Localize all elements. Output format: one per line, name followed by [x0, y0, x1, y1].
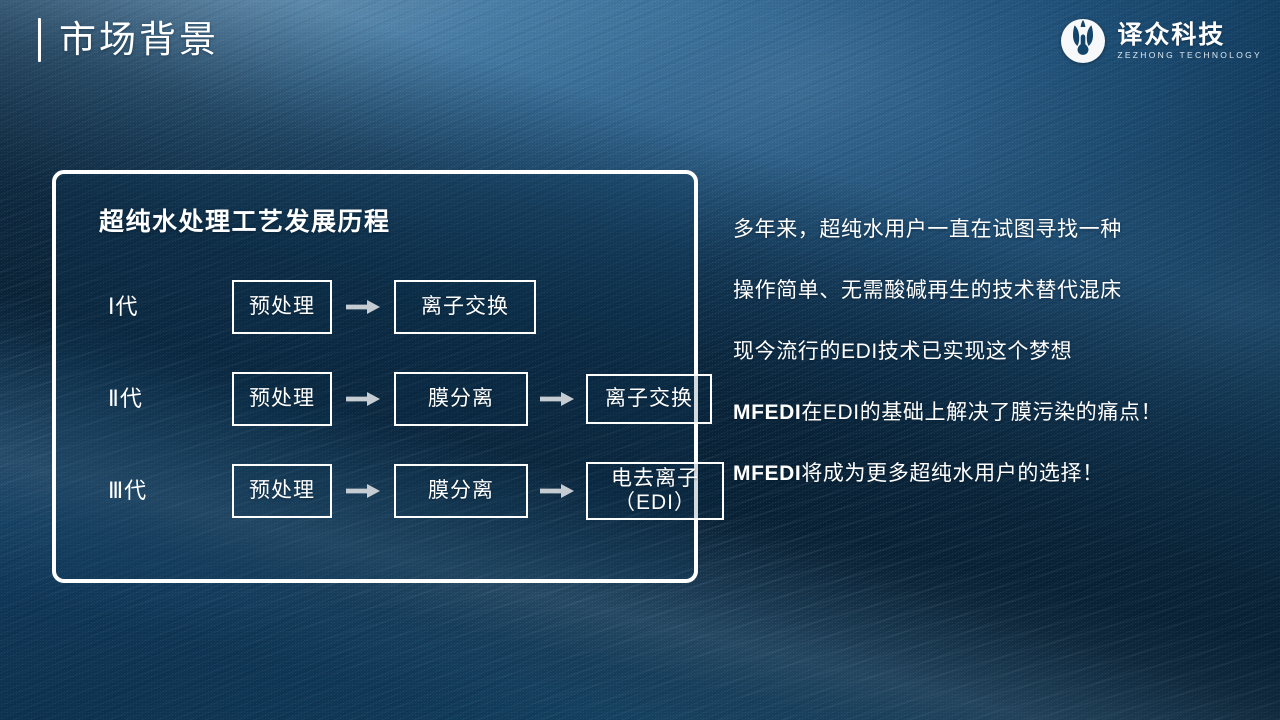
company-logo: 译众科技 ZEZHONG TECHNOLOGY [1060, 18, 1262, 64]
process-node-label: 离子交换 [421, 295, 509, 319]
generation-label: Ⅱ代 [108, 386, 143, 412]
process-node: 预处理 [232, 464, 332, 518]
process-node-label: 膜分离 [428, 387, 494, 411]
process-row: Ⅰ代预处理离子交换 [56, 278, 694, 336]
process-node: 离子交换 [394, 280, 536, 334]
narrative-line: MFEDI将成为更多超纯水用户的选择！ [733, 459, 1253, 489]
process-node-label: 膜分离 [428, 479, 494, 503]
narrative-line-text: 现今流行的EDI技术已实现这个梦想 [733, 340, 1072, 363]
process-node-label: （EDI） [614, 491, 696, 515]
title-accent-bar [38, 18, 41, 62]
process-row: Ⅲ代预处理膜分离电去离子（EDI） [56, 462, 694, 520]
narrative-text-block: 多年来，超纯水用户一直在试图寻找一种操作简单、无需酸碱再生的技术替代混床现今流行… [733, 215, 1253, 489]
page-title: 市场背景 [59, 18, 219, 62]
process-rows: Ⅰ代预处理离子交换Ⅱ代预处理膜分离离子交换Ⅲ代预处理膜分离电去离子（EDI） [56, 278, 694, 520]
flow-arrow-icon [346, 483, 380, 499]
process-node-label: 预处理 [249, 295, 315, 319]
narrative-line-text: 操作简单、无需酸碱再生的技术替代混床 [733, 279, 1122, 302]
flow-arrow-icon [346, 391, 380, 407]
logo-wordmark: 译众科技 ZEZHONG TECHNOLOGY [1117, 22, 1262, 60]
generation-label: Ⅰ代 [108, 294, 139, 320]
process-node-label: 离子交换 [605, 387, 693, 411]
logo-name-cn: 译众科技 [1117, 22, 1262, 49]
narrative-line: MFEDI在EDI的基础上解决了膜污染的痛点！ [733, 398, 1253, 428]
slide-header: 市场背景 [38, 18, 219, 62]
logo-name-en: ZEZHONG TECHNOLOGY [1117, 50, 1262, 60]
process-node: 预处理 [232, 280, 332, 334]
flow-arrow-icon [346, 299, 380, 315]
process-diagram-panel: 超纯水处理工艺发展历程 Ⅰ代预处理离子交换Ⅱ代预处理膜分离离子交换Ⅲ代预处理膜分… [52, 170, 698, 583]
flow-arrow-icon [540, 483, 574, 499]
process-node: 膜分离 [394, 464, 528, 518]
process-node-label: 预处理 [249, 479, 315, 503]
narrative-line: 操作简单、无需酸碱再生的技术替代混床 [733, 276, 1253, 306]
panel-title: 超纯水处理工艺发展历程 [99, 206, 391, 238]
narrative-line-text: 多年来，超纯水用户一直在试图寻找一种 [733, 218, 1122, 241]
generation-label: Ⅲ代 [108, 478, 147, 504]
zezhong-water-drop-icon [1060, 18, 1106, 64]
narrative-emphasis: MFEDI [733, 401, 801, 424]
narrative-line-text: 将成为更多超纯水用户的选择！ [801, 462, 1103, 485]
process-node-label: 电去离子 [611, 467, 699, 491]
flow-arrow-icon [540, 391, 574, 407]
process-node: 膜分离 [394, 372, 528, 426]
process-row: Ⅱ代预处理膜分离离子交换 [56, 370, 694, 428]
narrative-line: 现今流行的EDI技术已实现这个梦想 [733, 337, 1253, 367]
narrative-line: 多年来，超纯水用户一直在试图寻找一种 [733, 215, 1253, 245]
narrative-emphasis: MFEDI [733, 462, 801, 485]
slide-canvas: 市场背景 译众科技 ZEZHONG TECHNOLOGY [0, 0, 1280, 720]
process-node: 预处理 [232, 372, 332, 426]
process-node: 离子交换 [586, 374, 712, 424]
narrative-line-text: 在EDI的基础上解决了膜污染的痛点！ [801, 401, 1162, 424]
process-node-label: 预处理 [249, 387, 315, 411]
process-node: 电去离子（EDI） [586, 462, 724, 520]
